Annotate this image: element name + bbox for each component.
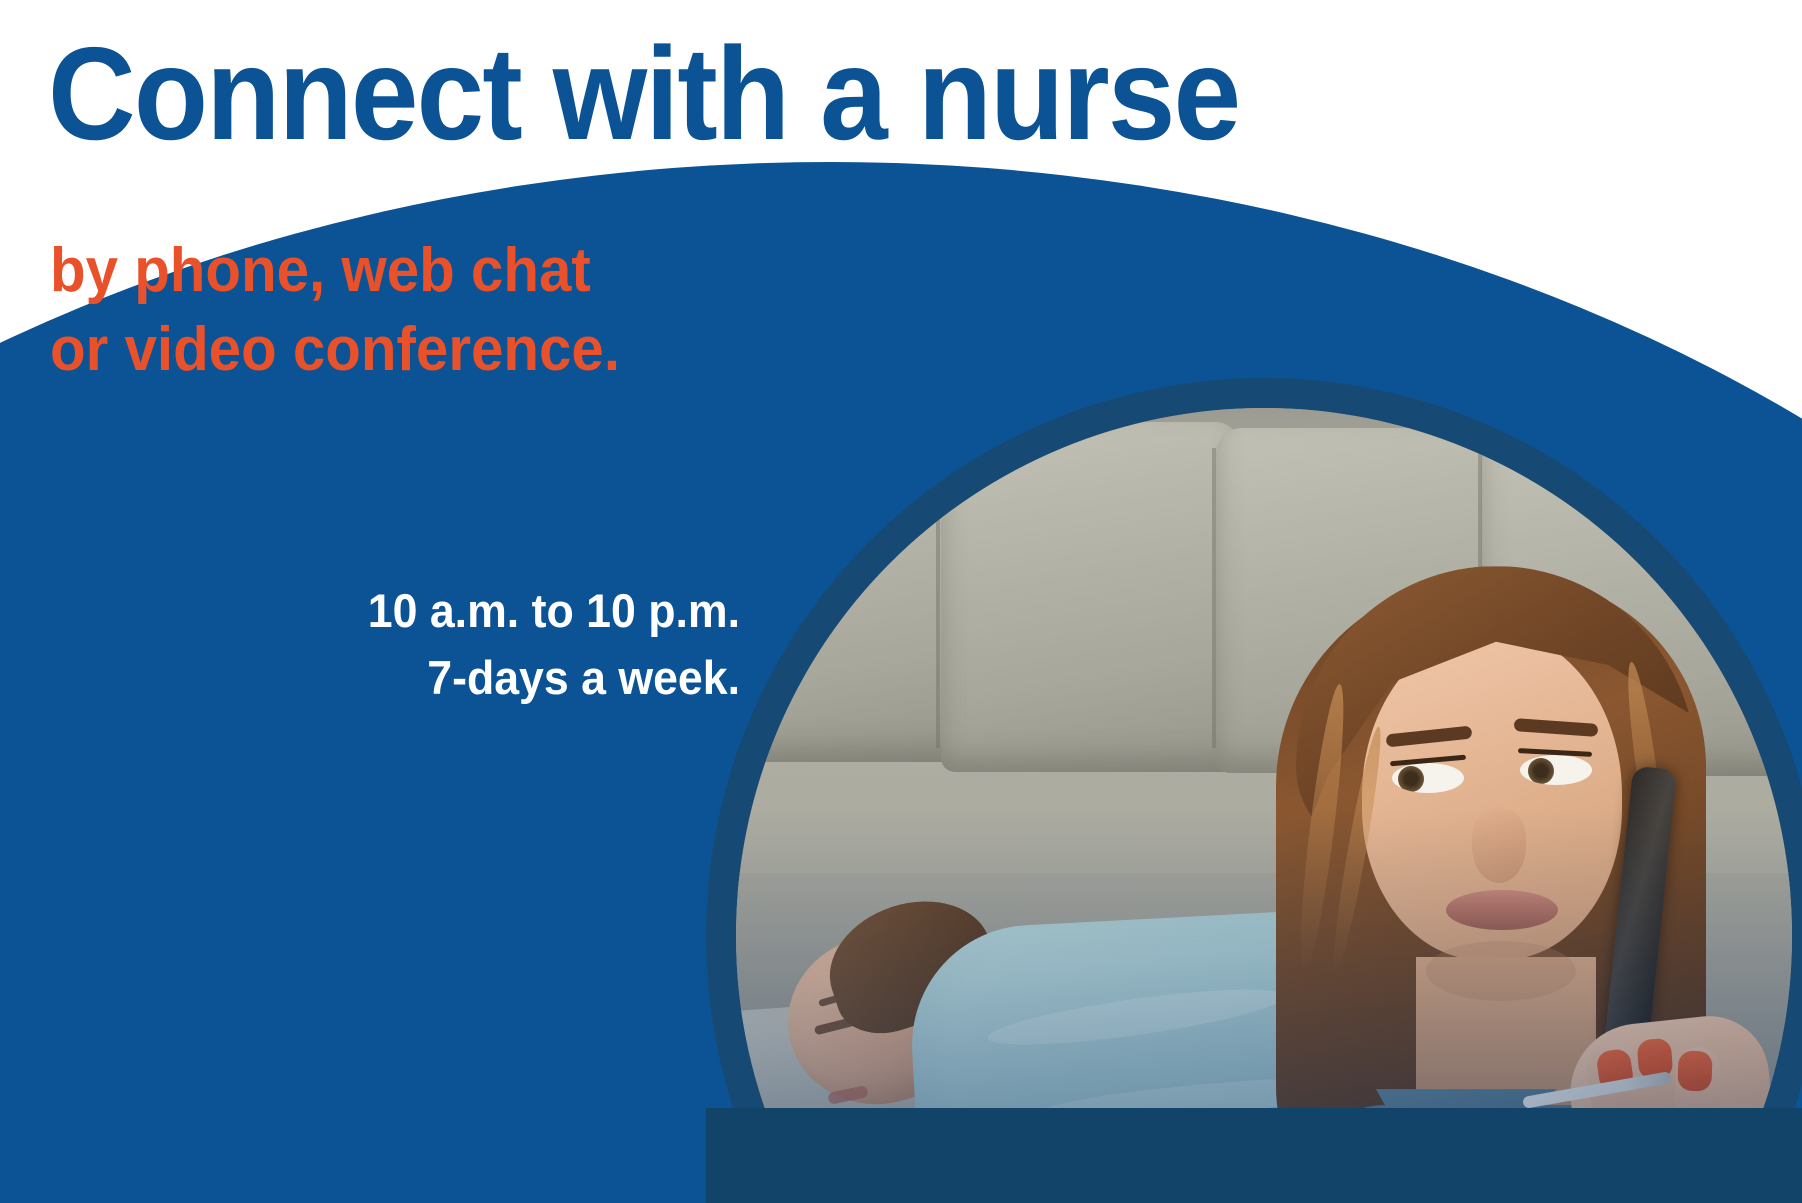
photo-circle [736,408,1792,1203]
page-title: Connect with a nurse [48,28,1239,160]
subheadline: by phone, web chat or video conference. [50,232,620,389]
photo-blue-overlay [736,408,1792,1108]
photo-clip [736,408,1792,1108]
hours-of-operation: 10 a.m. to 10 p.m. 7-days a week. [189,578,740,711]
photo-illustration [736,408,1792,1108]
connect-with-a-nurse-banner: Connect with a nurse by phone, web chat … [0,0,1802,1203]
bottom-band [706,1108,1802,1203]
